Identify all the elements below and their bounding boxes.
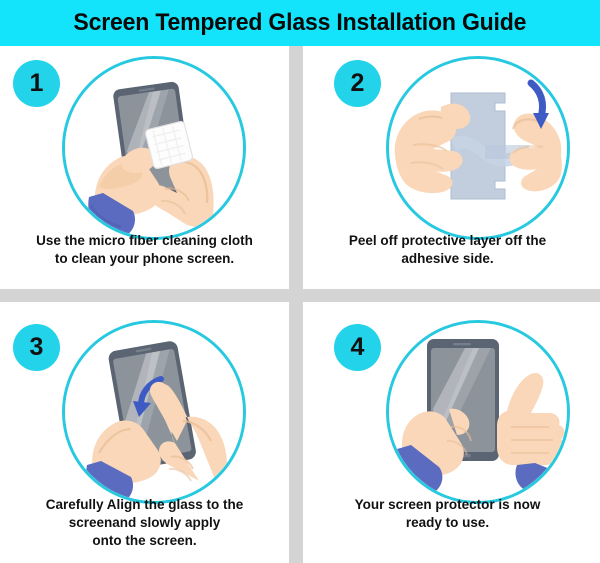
step-illustration-2 (386, 56, 570, 240)
step-caption-4: Your screen protector is now ready to us… (309, 496, 586, 532)
step-badge-label: 3 (30, 335, 44, 360)
step-caption-1: Use the micro fiber cleaning cloth to cl… (6, 232, 283, 268)
step-illustration-4 (386, 320, 570, 504)
caption-line: screenand slowly apply (6, 514, 283, 532)
installation-guide-infographic: Screen Tempered Glass Installation Guide… (0, 0, 600, 563)
step-badge-2: 2 (334, 60, 381, 107)
step-badge-3: 3 (13, 324, 60, 371)
step-panel-2: 2 (303, 46, 592, 289)
step-badge-label: 1 (30, 71, 44, 96)
step-panel-3: 3 (0, 302, 289, 563)
step-panel-1: 1 (0, 46, 289, 289)
step-badge-4: 4 (334, 324, 381, 371)
step-caption-3: Carefully Align the glass to the screena… (6, 496, 283, 551)
hand-holding-phone-with-cleaning-cloth-icon (65, 59, 243, 237)
finger-pressing-glass-onto-phone-screen-icon (65, 323, 243, 501)
caption-line: Carefully Align the glass to the (6, 496, 283, 514)
caption-line: Use the micro fiber cleaning cloth (6, 232, 283, 250)
caption-line: onto the screen. (6, 532, 283, 550)
header-bar: Screen Tempered Glass Installation Guide (0, 0, 600, 46)
step-illustration-3 (62, 320, 246, 504)
caption-line: to clean your phone screen. (6, 250, 283, 268)
caption-line: ready to use. (309, 514, 586, 532)
vertical-divider (289, 46, 303, 563)
step-panel-4: 4 (303, 302, 592, 563)
page-title: Screen Tempered Glass Installation Guide (74, 11, 527, 35)
step-badge-label: 2 (351, 71, 365, 96)
step-caption-2: Peel off protective layer off the adhesi… (309, 232, 586, 268)
caption-line: adhesive side. (309, 250, 586, 268)
hand-holding-phone-with-thumbs-up-icon (389, 323, 567, 501)
two-hands-peeling-film-from-glass-icon (389, 59, 567, 237)
horizontal-divider (0, 289, 600, 302)
step-badge-label: 4 (351, 335, 365, 360)
caption-line: Peel off protective layer off the (309, 232, 586, 250)
step-illustration-1 (62, 56, 246, 240)
step-badge-1: 1 (13, 60, 60, 107)
caption-line: Your screen protector is now (309, 496, 586, 514)
